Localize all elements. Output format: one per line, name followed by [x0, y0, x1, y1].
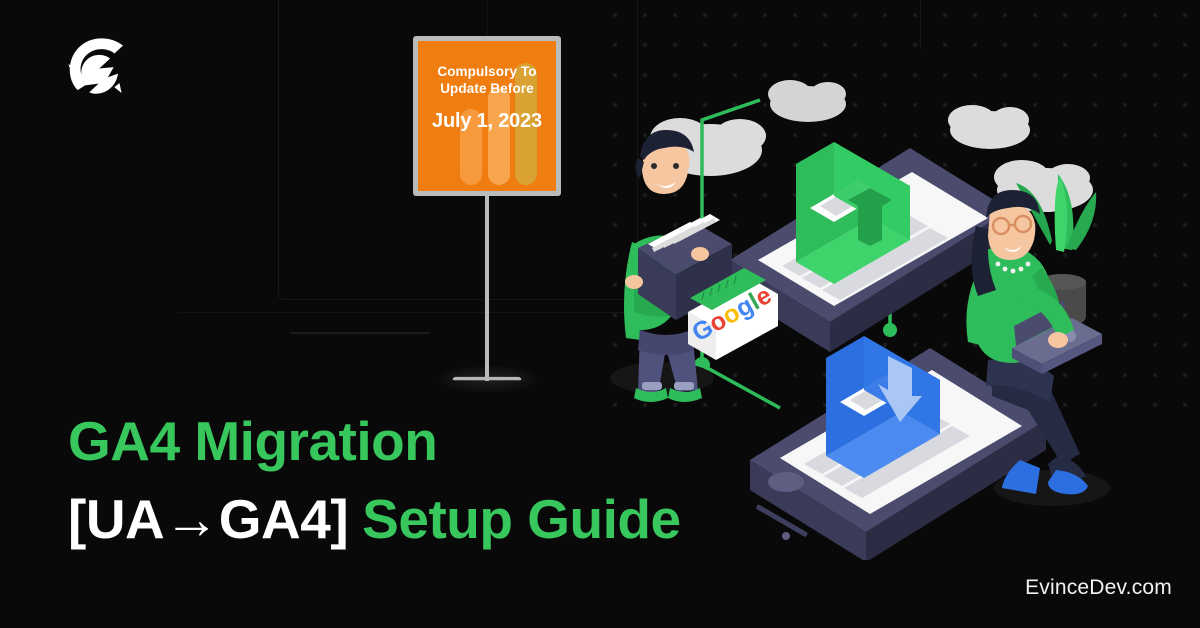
sign-line-2: Update Before: [426, 80, 548, 97]
sign-base: [452, 377, 522, 380]
sign-text-block: Compulsory To Update Before July 1, 2023: [418, 41, 556, 133]
brand-website[interactable]: EvinceDev.com: [1025, 576, 1172, 600]
cloud-icon: [948, 105, 1030, 149]
sign-deadline-date: July 1, 2023: [426, 110, 548, 133]
page-title: GA4 Migration [UA→GA4]Setup Guide: [68, 408, 848, 552]
banner-canvas: Compulsory To Update Before July 1, 2023: [0, 0, 1200, 628]
sign-board: Compulsory To Update Before July 1, 2023: [413, 36, 561, 196]
sign-face: Compulsory To Update Before July 1, 2023: [418, 41, 556, 191]
spartan-helmet-logo[interactable]: [64, 34, 136, 106]
sign-pole: [485, 196, 489, 381]
headline-setup-guide: Setup Guide: [362, 488, 680, 550]
cloud-icon: [768, 80, 846, 122]
sign-line-1: Compulsory To: [426, 63, 548, 80]
background-rule-short: [290, 332, 430, 334]
headline-line-1: GA4 Migration: [68, 408, 848, 474]
headline-line-2: [UA→GA4]Setup Guide: [68, 486, 848, 552]
compulsory-update-sign: Compulsory To Update Before July 1, 2023: [413, 36, 563, 366]
headline-migration-path: [UA→GA4]: [68, 488, 348, 550]
